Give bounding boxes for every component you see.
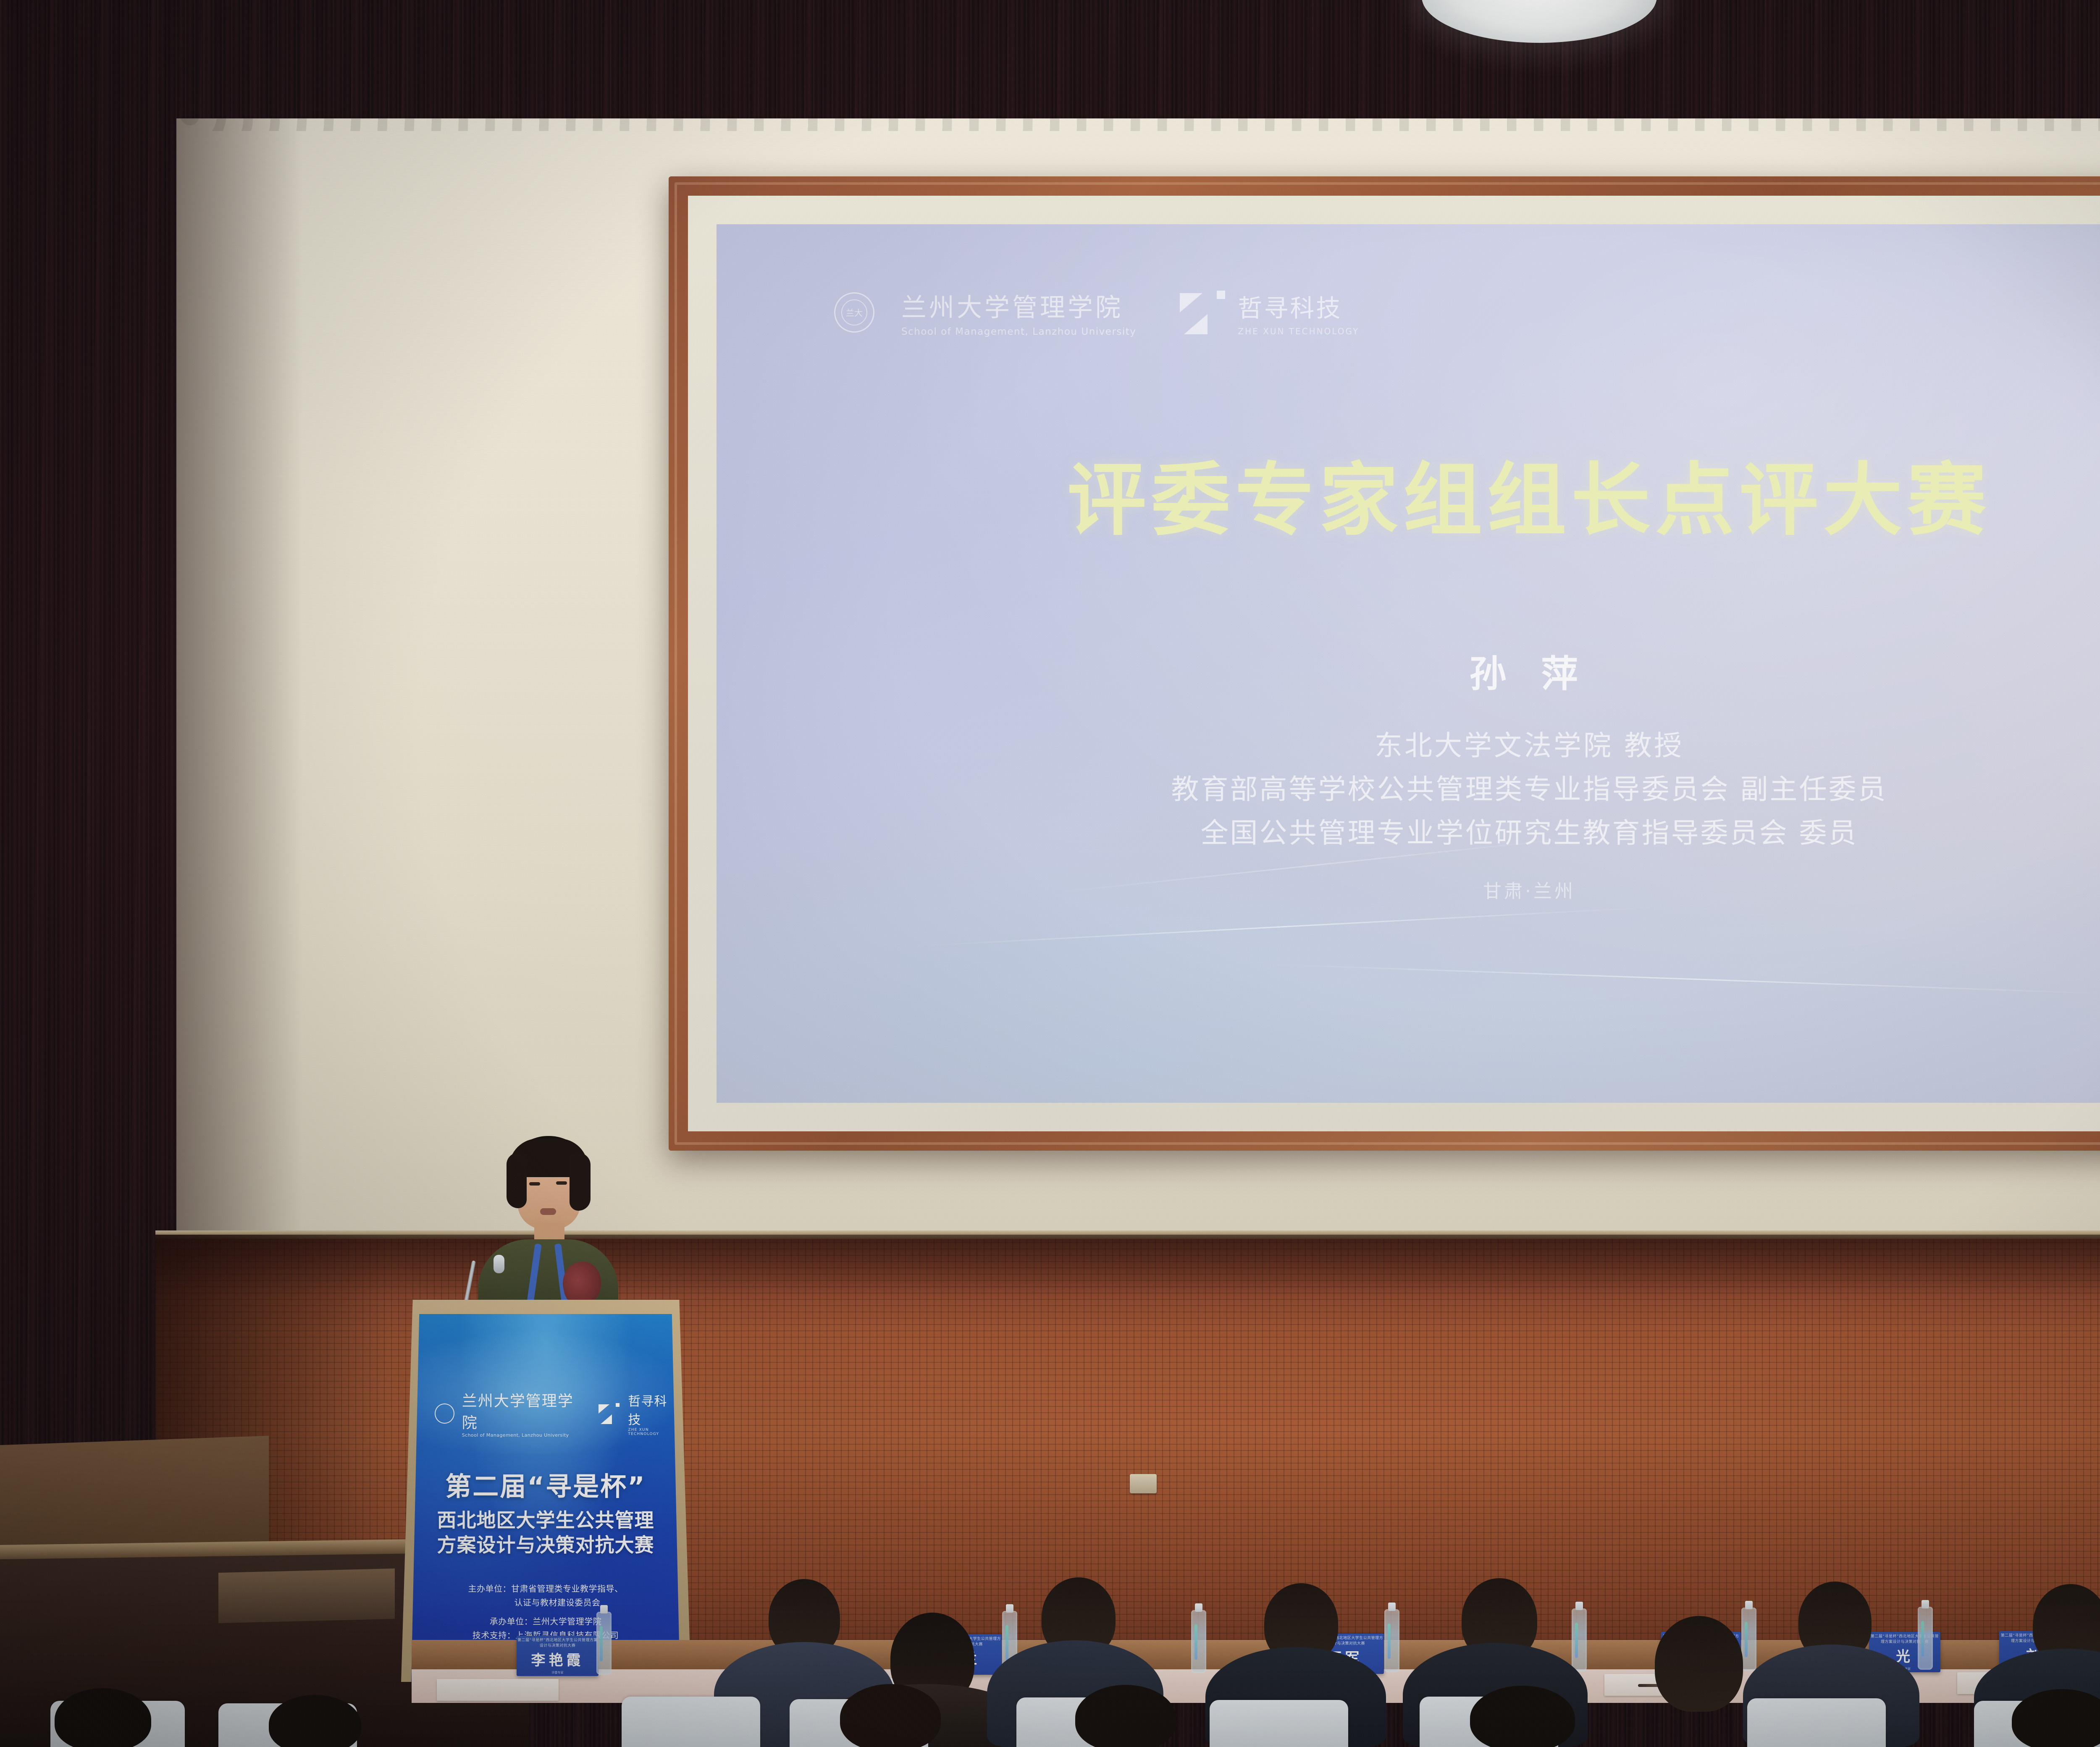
chair-back	[1210, 1700, 1348, 1747]
stage-step	[218, 1569, 395, 1623]
wainscot-shadow	[155, 1235, 2100, 1298]
wall-left-shadow	[176, 118, 302, 1244]
placard-event-label: 第二届“寻是杯”西北地区大学生公共管理方案设计与决策对抗大赛	[517, 1637, 598, 1648]
banner-university-name-cn: 兰州大学管理学院	[462, 1389, 586, 1432]
screen-mat: 兰大 兰州大学管理学院 School of Management, Lanzho…	[688, 196, 2100, 1131]
audience-head	[1655, 1616, 1743, 1712]
banner-subtitle-line-1: 西北地区大学生公共管理	[411, 1508, 680, 1533]
speaker-eye-left	[529, 1182, 540, 1186]
slide-vignette	[717, 224, 2100, 1103]
wall-outlet	[1130, 1474, 1157, 1493]
wall-top-molding	[176, 116, 2100, 131]
banner-host-line: 承办单位：兰州大学管理学院	[411, 1615, 680, 1629]
placard-role-label: 评委专家	[552, 1671, 564, 1675]
banner-subtitle: 西北地区大学生公共管理 方案设计与决策对抗大赛	[411, 1508, 680, 1558]
auditorium-scene: 兰大 兰州大学管理学院 School of Management, Lanzho…	[0, 0, 2100, 1747]
audience-head-foreground	[1470, 1686, 1575, 1747]
speaker-eye-right	[556, 1181, 567, 1185]
speaker-mouth	[540, 1208, 556, 1215]
banner-headline: 第二届“寻是杯”	[411, 1465, 680, 1503]
banner-logo-row: 兰州大学管理学院 School of Management, Lanzhou U…	[435, 1389, 680, 1438]
banner-organizer-value-1: 甘肃省管理类专业教学指导、	[511, 1584, 623, 1594]
audience-head-foreground	[1075, 1685, 1176, 1747]
banner-sponsor-name-en: ZHE XUN TECHNOLOGY	[628, 1428, 680, 1436]
placard-name: 李艳霞	[531, 1649, 584, 1669]
water-bottle	[1918, 1607, 1933, 1670]
banner-subtitle-line-2: 方案设计与决策对抗大赛	[411, 1533, 680, 1558]
banner-university-name-en: School of Management, Lanzhou University	[462, 1432, 586, 1438]
speaker-hair-right	[570, 1153, 591, 1211]
water-bottle	[1572, 1608, 1587, 1671]
water-bottle	[1384, 1609, 1399, 1672]
banner-sponsor-wordmark: 哲寻科技 ZHE XUN TECHNOLOGY	[628, 1391, 680, 1436]
water-bottle	[596, 1612, 612, 1675]
audience-head-foreground	[840, 1684, 941, 1747]
chair-back	[1747, 1698, 1886, 1747]
banner-organizer-line-2: 认证与教材建设委员会	[411, 1596, 680, 1610]
banner-university-wordmark: 兰州大学管理学院 School of Management, Lanzhou U…	[462, 1389, 586, 1438]
microphone-head-icon	[493, 1255, 504, 1273]
audience-head-foreground	[55, 1688, 151, 1747]
podium: 兰州大学管理学院 School of Management, Lanzhou U…	[401, 1300, 691, 1682]
speaker-hair-left	[507, 1153, 527, 1208]
banner-university-seal-icon	[435, 1403, 454, 1424]
name-placard: 第二届“寻是杯”西北地区大学生公共管理方案设计与决策对抗大赛 李艳霞 评委专家	[517, 1636, 598, 1676]
banner-organizer-block: 主办单位：甘肃省管理类专业教学指导、 认证与教材建设委员会 承办单位：兰州大学管…	[411, 1582, 680, 1642]
banner-organizer-line-1: 主办单位：甘肃省管理类专业教学指导、	[411, 1582, 680, 1596]
projection-screen-frame: 兰大 兰州大学管理学院 School of Management, Lanzho…	[669, 176, 2100, 1151]
water-bottle	[1191, 1610, 1206, 1673]
water-bottle	[1741, 1608, 1756, 1671]
podium-banner: 兰州大学管理学院 School of Management, Lanzhou U…	[411, 1314, 680, 1682]
chair-back	[622, 1697, 760, 1747]
projection-screen-surface: 兰大 兰州大学管理学院 School of Management, Lanzho…	[717, 224, 2100, 1103]
banner-organizer-label: 主办单位：	[468, 1584, 512, 1594]
banner-sponsor-name-cn: 哲寻科技	[628, 1391, 680, 1428]
paper-sheet	[437, 1679, 559, 1701]
banner-zhexun-x-mark-icon	[598, 1403, 620, 1424]
